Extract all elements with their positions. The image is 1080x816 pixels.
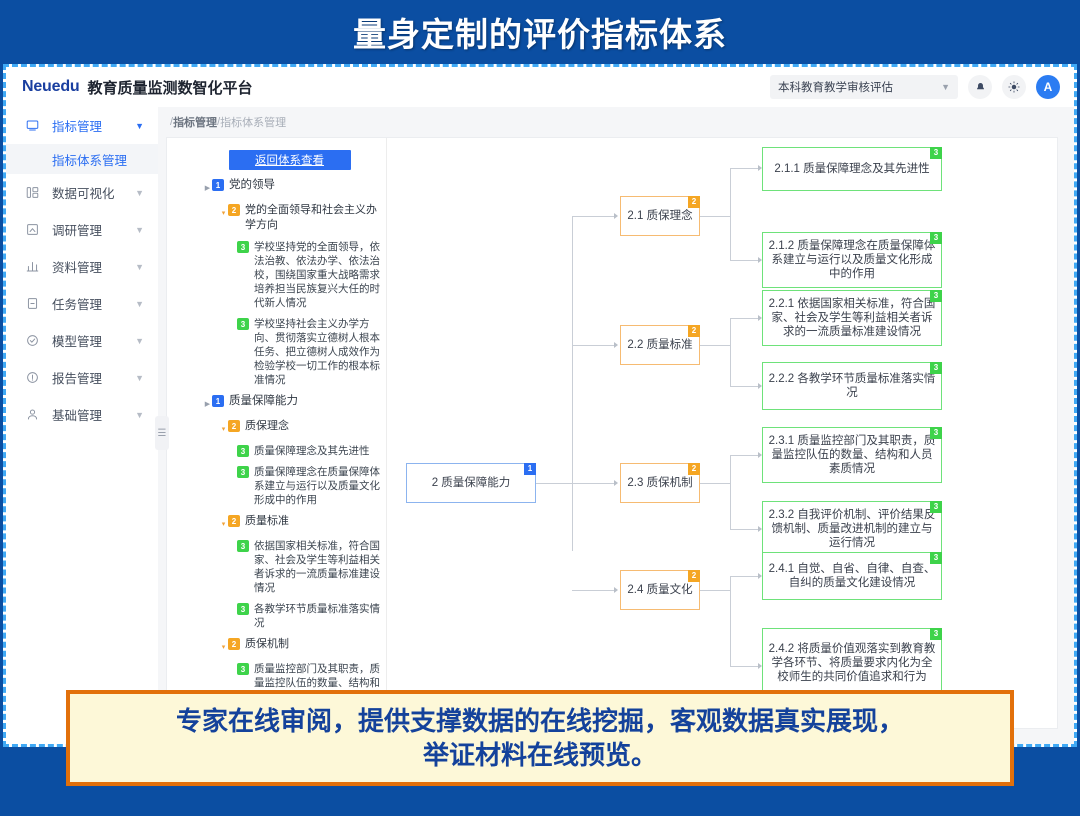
sidebar-item-调研管理[interactable]: 调研管理 ▼ [6,211,158,248]
level-badge: 3 [930,427,942,439]
chevron-down-icon: ▼ [135,225,144,235]
caret-down-icon[interactable]: ▾ [219,637,228,655]
dashboard-icon [24,119,40,132]
tree-node[interactable]: 3 质量保障理念在质量保障体系建立与运行以及质量文化形成中的作用 [199,465,380,507]
tree-node-label: 学校坚持社会主义办学方向、贯彻落实立德树人根本任务、把立德树人成效作为检验学校一… [254,317,380,387]
mindmap-node-label: 2.4 质量文化 [627,583,692,597]
sidebar-item-label: 任务管理 [52,294,102,313]
sidebar-item-label: 数据可视化 [52,183,115,202]
slide-title: 量身定制的评价指标体系 [0,0,1080,64]
mindmap-canvas[interactable]: 1 2 质量保障能力 2 2.1 质保理念 2 2.2 质量标准 [388,138,1057,728]
tree-node[interactable]: ▾ 2 质保机制 [199,637,380,655]
arrow-icon [614,587,618,593]
connector [700,590,730,591]
mindmap-node-leaf[interactable]: 3 2.1.1 质量保障理念及其先进性 [762,147,942,191]
mindmap-node-leaf[interactable]: 3 2.4.2 将质量价值观落实到教育教学各环节、将质量要求内化为全校师生的共同… [762,628,942,698]
breadcrumb-root[interactable]: 指标管理 [173,114,217,130]
mindmap-node-label: 2.2.1 依据国家相关标准，符合国家、社会及学生等利益相关者诉求的一流质量标准… [767,297,937,339]
slide: 量身定制的评价指标体系 Neuedu 教育质量监测数智化平台 本科教育教学审核评… [0,0,1080,816]
level-badge: 2 [228,204,240,216]
connector [572,345,616,346]
tree-node[interactable]: 3 学校坚持社会主义办学方向、贯彻落实立德树人根本任务、把立德树人成效作为检验学… [199,317,380,387]
tree-node-label: 质量保障理念及其先进性 [254,444,370,458]
sidebar-item-任务管理[interactable]: 任务管理 ▼ [6,285,158,322]
mindmap-node-label: 2.1.2 质量保障理念在质量保障体系建立与运行以及质量文化形成中的作用 [767,239,937,281]
mindmap-node-label: 2.3.2 自我评价机制、评价结果反馈机制、质量改进机制的建立与运行情况 [767,508,937,550]
brand: Neuedu 教育质量监测数智化平台 [22,77,253,98]
connector [700,216,730,217]
chevron-down-icon: ▼ [135,373,144,383]
connector [730,386,760,387]
level-badge: 3 [930,628,942,640]
mindmap-node-branch[interactable]: 2 2.1 质保理念 [620,196,700,236]
mindmap-node-label: 2.1.1 质量保障理念及其先进性 [774,162,929,176]
connector [700,483,730,484]
level-badge: 3 [237,466,249,478]
breadcrumb-current: 指标体系管理 [220,114,286,130]
connector [730,576,760,577]
content-card: ☰ 返回体系查看 ▶ 1 党的领导 ▾ 2 党的全面领导和社会主义办学方向 [166,137,1058,729]
level-badge: 3 [930,147,942,159]
connector [730,666,760,667]
level-badge: 2 [688,325,700,337]
mindmap-node-label: 2.1 质保理念 [627,209,692,223]
level-badge: 2 [688,570,700,582]
tree-node[interactable]: ▾ 2 质量标准 [199,514,380,532]
tree-node[interactable]: 3 依据国家相关标准，符合国家、社会及学生等利益相关者诉求的一流质量标准建设情况 [199,539,380,595]
caret-down-icon[interactable]: ▾ [219,419,228,437]
mindmap-node-label: 2 质量保障能力 [432,476,511,490]
caret-right-icon[interactable]: ▶ [203,178,212,196]
level-badge: 2 [228,638,240,650]
sidebar-item-报告管理[interactable]: 报告管理 ▼ [6,359,158,396]
connector [572,483,616,484]
chart-blocks-icon [24,186,40,199]
level-badge: 3 [237,241,249,253]
survey-icon [24,223,40,236]
breadcrumb: / 指标管理 / 指标体系管理 [158,107,1074,137]
level-badge: 1 [212,179,224,191]
project-select[interactable]: 本科教育教学审核评估 ▼ [770,75,958,99]
chevron-down-icon: ▼ [135,336,144,346]
connector [730,168,731,260]
mindmap-node-label: 2.4.1 自觉、自省、自律、自查、自纠的质量文化建设情况 [767,562,937,590]
tree-node-label: 质保理念 [245,419,289,434]
indicator-tree-pane[interactable]: 返回体系查看 ▶ 1 党的领导 ▾ 2 党的全面领导和社会主义办学方向 [191,138,387,728]
connector [700,345,730,346]
tree-node-label: 质保机制 [245,637,289,652]
level-badge: 2 [688,196,700,208]
mindmap-node-leaf[interactable]: 3 2.1.2 质量保障理念在质量保障体系建立与运行以及质量文化形成中的作用 [762,232,942,288]
caret-right-icon[interactable]: ▶ [203,394,212,412]
sidebar-item-label: 指标管理 [52,116,102,135]
level-badge: 2 [228,515,240,527]
arrow-icon [614,480,618,486]
tree-node-label: 质量保障能力 [229,394,298,409]
product-name: 教育质量监测数智化平台 [87,77,252,98]
level-badge: 3 [930,362,942,374]
level-badge: 1 [524,463,536,475]
mindmap-node-leaf[interactable]: 3 2.4.1 自觉、自省、自律、自查、自纠的质量文化建设情况 [762,552,942,600]
main-content: / 指标管理 / 指标体系管理 ☰ 返回体系查看 ▶ 1 党的领导 [158,107,1074,744]
mindmap-node-root[interactable]: 1 2 质量保障能力 [406,463,536,503]
chevron-down-icon: ▼ [135,121,144,131]
sidebar-item-资料管理[interactable]: 资料管理 ▼ [6,248,158,285]
info-circle-icon [24,371,40,384]
tree-node-label: 党的领导 [229,178,275,193]
sidebar-item-基础管理[interactable]: 基础管理 ▼ [6,396,158,433]
sidebar-item-label: 报告管理 [52,368,102,387]
bar-chart-icon [24,260,40,273]
mindmap-node-leaf[interactable]: 3 2.2.1 依据国家相关标准，符合国家、社会及学生等利益相关者诉求的一流质量… [762,290,942,346]
mindmap-node-branch[interactable]: 2 2.2 质量标准 [620,325,700,365]
level-badge: 2 [228,420,240,432]
caption-box: 专家在线审阅，提供支撑数据的在线挖掘，客观数据真实展现， 举证材料在线预览。 [66,690,1014,786]
chevron-down-icon: ▼ [941,83,950,92]
level-badge: 3 [930,232,942,244]
mindmap-node-label: 2.4.2 将质量价值观落实到教育教学各环节、将质量要求内化为全校师生的共同价值… [767,642,937,684]
level-badge: 3 [930,501,942,513]
screenshot-frame: Neuedu 教育质量监测数智化平台 本科教育教学审核评估 ▼ A [3,64,1077,747]
mindmap-node-leaf[interactable]: 3 2.3.1 质量监控部门及其职责，质量监控队伍的数量、结构和人员素质情况 [762,427,942,483]
header-actions: 本科教育教学审核评估 ▼ A [770,67,1060,107]
theme-toggle-icon[interactable] [1002,75,1026,99]
sidebar-subitem-指标体系管理[interactable]: 指标体系管理 [6,144,158,174]
connector [572,216,616,217]
tree-node-label: 依据国家相关标准，符合国家、社会及学生等利益相关者诉求的一流质量标准建设情况 [254,539,380,595]
sidebar-item-label: 调研管理 [52,220,102,239]
caption-line-1: 专家在线审阅，提供支撑数据的在线挖掘，客观数据真实展现， [176,704,904,738]
project-select-value: 本科教育教学审核评估 [778,79,893,95]
connector [730,318,760,319]
level-badge: 3 [930,552,942,564]
tree-node[interactable]: 3 质量保障理念及其先进性 [199,444,380,458]
tree-node[interactable]: 3 学校坚持党的全面领导，依法治教、依法办学、依法治校，围绕国家重大战略需求培养… [199,240,380,310]
tree-node-label: 学校坚持党的全面领导，依法治教、依法办学、依法治校，围绕国家重大战略需求培养担当… [254,240,380,310]
sidebar-item-数据可视化[interactable]: 数据可视化 ▼ [6,174,158,211]
tree-node[interactable]: ▾ 2 党的全面领导和社会主义办学方向 [199,203,380,233]
app-header: Neuedu 教育质量监测数智化平台 本科教育教学审核评估 ▼ A [6,67,1074,108]
sidebar: 指标管理 ▼ 指标体系管理 数据可视化 ▼ 调 [6,107,159,744]
level-badge: 3 [237,663,249,675]
connector [730,576,731,666]
mindmap-node-label: 2.2.2 各教学环节质量标准落实情况 [767,372,937,400]
sidebar-item-模型管理[interactable]: 模型管理 ▼ [6,322,158,359]
chevron-down-icon: ▼ [135,188,144,198]
level-badge: 3 [237,445,249,457]
tree-node[interactable]: 3 各教学环节质量标准落实情况 [199,602,380,630]
connector [572,216,573,551]
mindmap-node-label: 2.2 质量标准 [627,338,692,352]
mindmap-node-leaf[interactable]: 3 2.2.2 各教学环节质量标准落实情况 [762,362,942,410]
connector [536,483,572,484]
tree-node-label: 质量标准 [245,514,289,529]
level-badge: 3 [930,290,942,302]
sidebar-item-指标管理[interactable]: 指标管理 ▼ [6,107,158,144]
connector [730,318,731,386]
caret-down-icon[interactable]: ▾ [219,514,228,532]
tree-node-label: 党的全面领导和社会主义办学方向 [245,203,380,233]
arrow-icon [614,213,618,219]
chevron-down-icon: ▼ [135,299,144,309]
mindmap-node-branch[interactable]: 2 2.3 质保机制 [620,463,700,503]
tree-node-label: 各教学环节质量标准落实情况 [254,602,380,630]
user-icon [24,408,40,421]
mindmap-node-label: 2.3 质保机制 [627,476,692,490]
level-badge: 1 [212,395,224,407]
level-badge: 3 [237,540,249,552]
connector [730,455,760,456]
sidebar-subitem-label: 指标体系管理 [52,150,127,169]
tree-node[interactable]: ▶ 1 党的领导 [199,178,380,196]
mindmap-node-branch[interactable]: 2 2.4 质量文化 [620,570,700,610]
sidebar-item-label: 资料管理 [52,257,102,276]
check-circle-icon [24,334,40,347]
app-window: Neuedu 教育质量监测数智化平台 本科教育教学审核评估 ▼ A [6,67,1074,744]
connector [572,590,616,591]
connector [730,260,760,261]
connector [730,168,760,169]
level-badge: 3 [237,603,249,615]
connector [730,529,760,530]
tree-node[interactable]: ▶ 1 质量保障能力 [199,394,380,412]
back-to-system-view-button[interactable]: 返回体系查看 [229,150,351,170]
tree-node[interactable]: ▾ 2 质保理念 [199,419,380,437]
level-badge: 3 [237,318,249,330]
level-badge: 2 [688,463,700,475]
avatar[interactable]: A [1036,75,1060,99]
mindmap-node-leaf[interactable]: 3 2.3.2 自我评价机制、评价结果反馈机制、质量改进机制的建立与运行情况 [762,501,942,557]
sidebar-item-label: 基础管理 [52,405,102,424]
caret-down-icon[interactable]: ▾ [219,203,228,221]
connector [730,455,731,529]
chevron-down-icon: ▼ [135,410,144,420]
task-icon [24,297,40,310]
tree-node-label: 质量保障理念在质量保障体系建立与运行以及质量文化形成中的作用 [254,465,380,507]
notification-bell-icon[interactable] [968,75,992,99]
brand-logo: Neuedu [22,78,79,96]
mindmap-node-label: 2.3.1 质量监控部门及其职责，质量监控队伍的数量、结构和人员素质情况 [767,434,937,476]
chevron-down-icon: ▼ [135,262,144,272]
caption-line-2: 举证材料在线预览。 [423,738,657,772]
collapse-panel-handle[interactable]: ☰ [155,416,169,450]
arrow-icon [614,342,618,348]
sidebar-item-label: 模型管理 [52,331,102,350]
